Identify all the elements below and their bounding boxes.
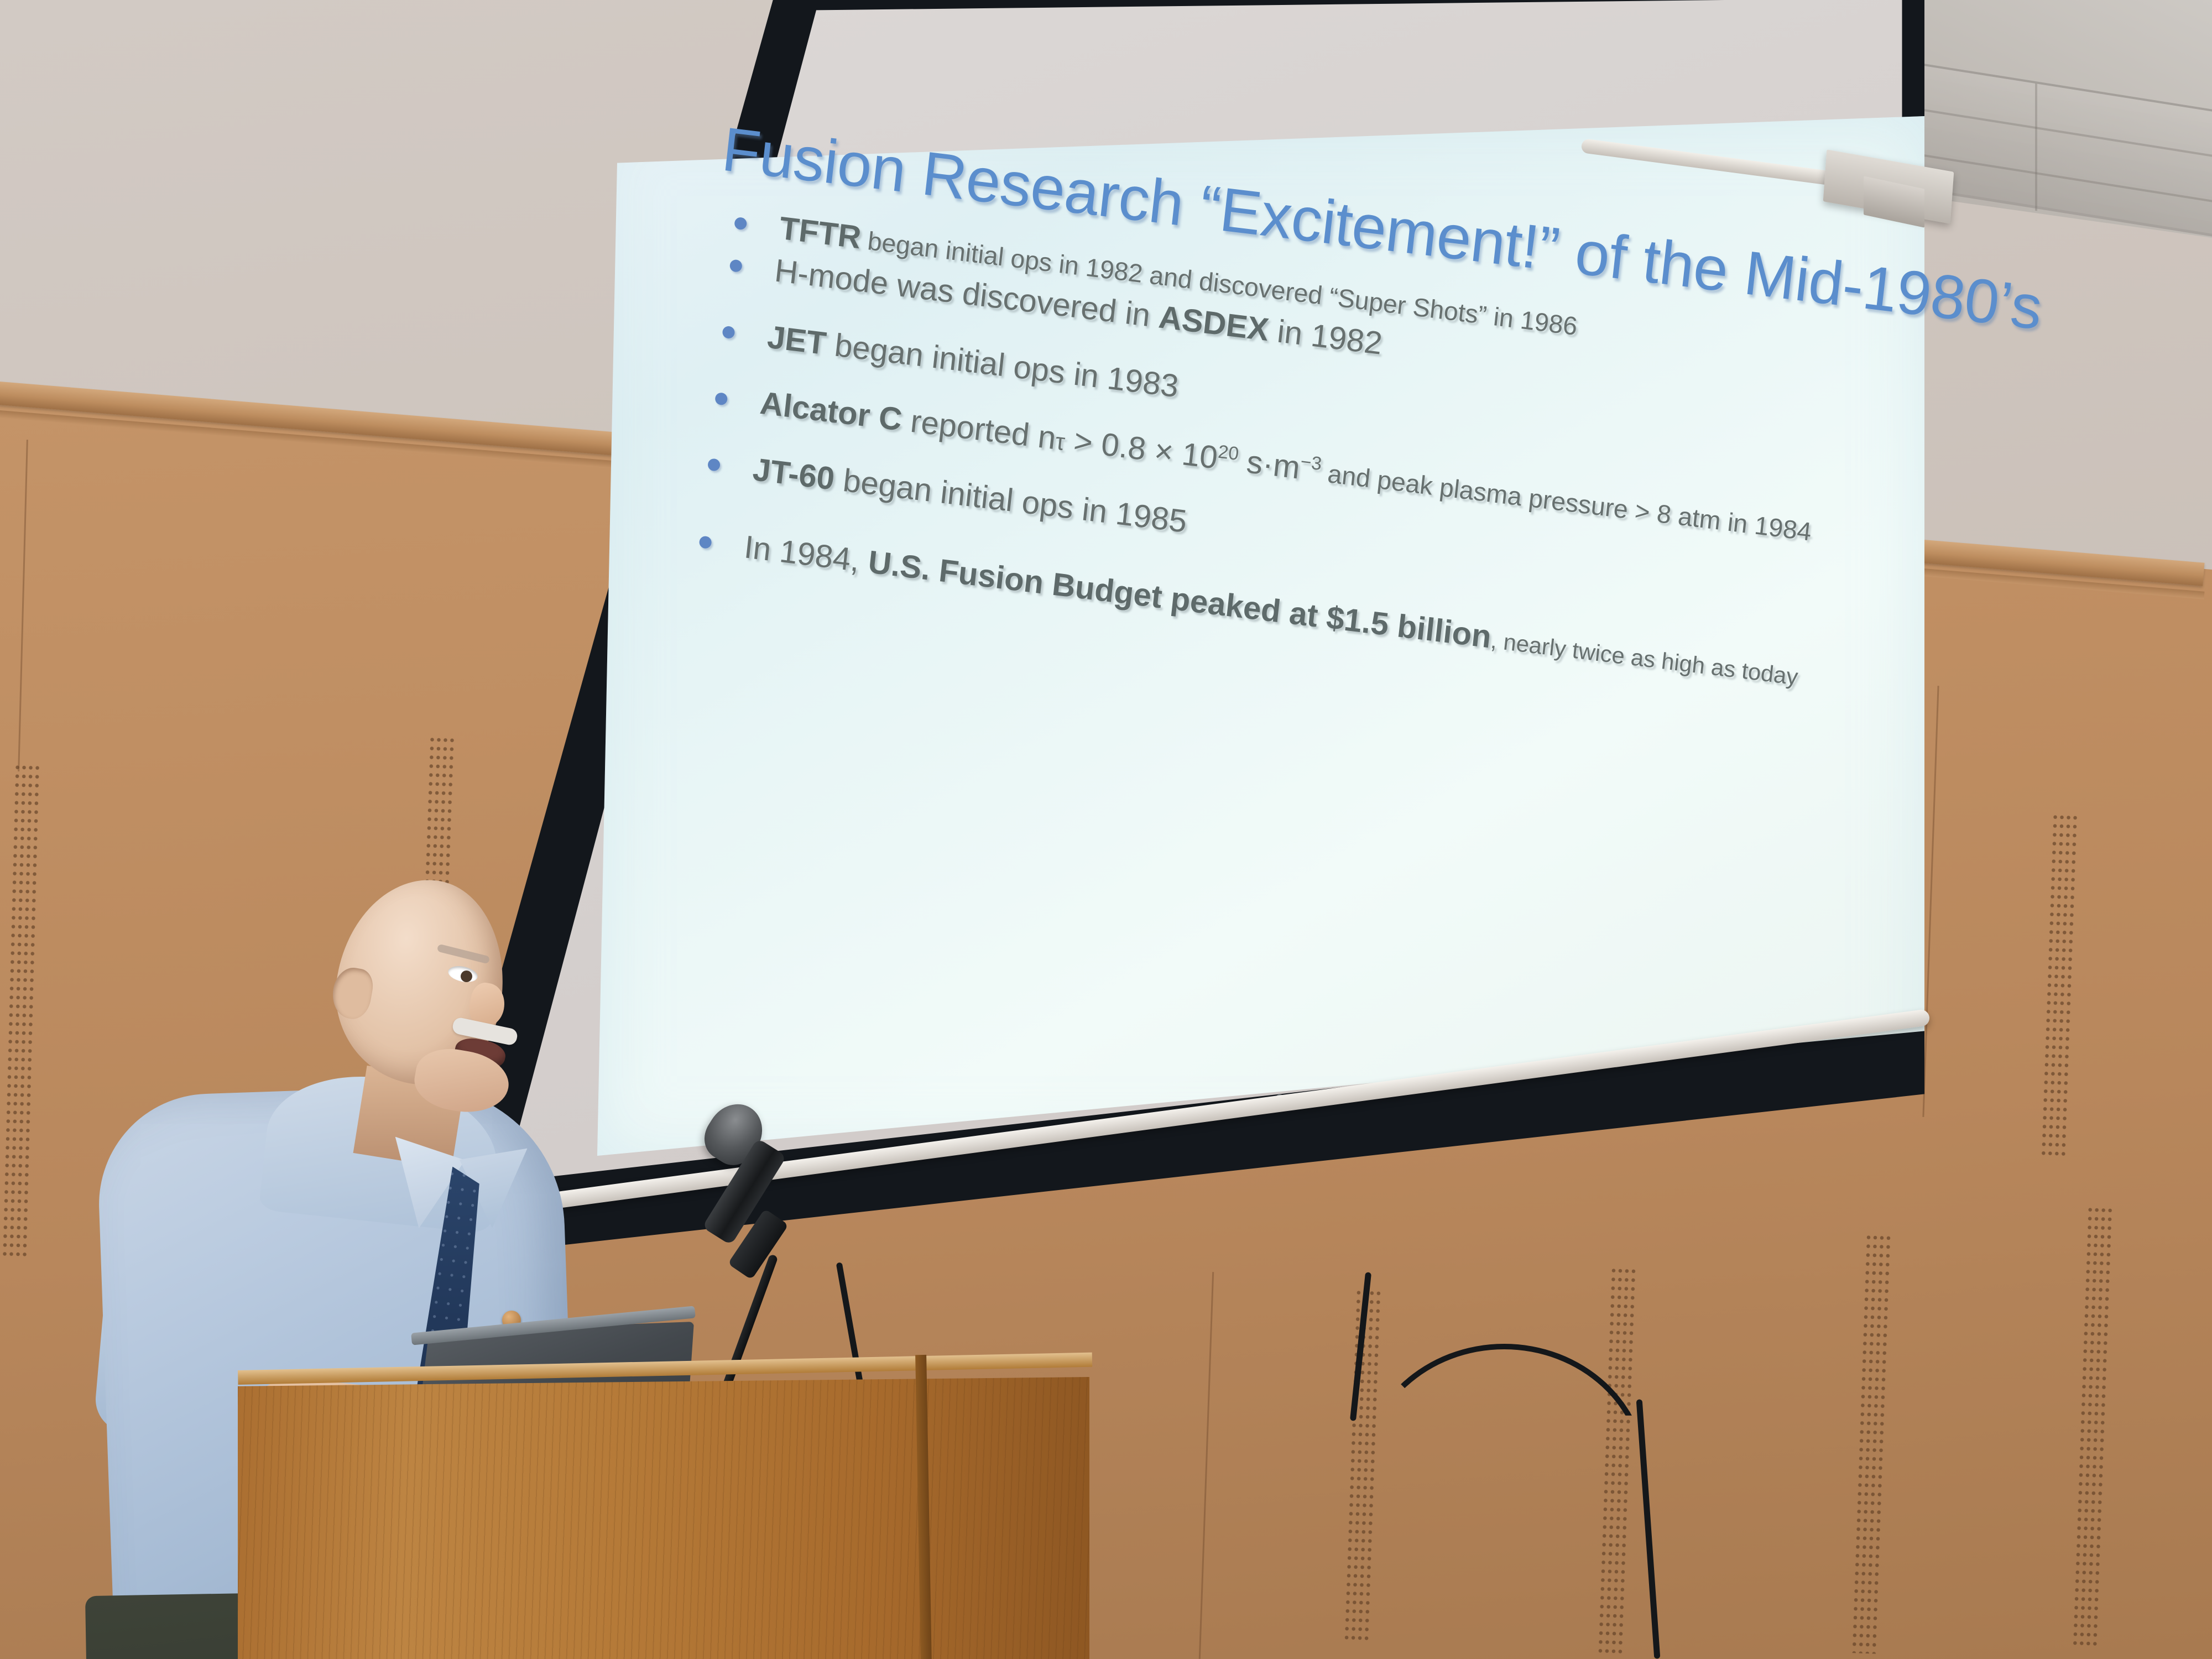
bullet-lead: JT-60 [751,451,836,497]
bullet-dot-icon [714,392,728,406]
bullet-dot-icon [698,535,712,549]
bullet-lead: JET [766,319,828,361]
bullet-exponent: 20 [1217,442,1240,465]
bullet-dot-icon [722,326,735,340]
bullet-rest: in 1982 [1267,312,1384,361]
presenter-pupil [461,971,472,982]
bullet-dot-icon [729,259,743,273]
bullet-rest-c: s·m [1236,443,1302,486]
bullet-dot-icon [734,217,747,231]
bullet-lead: TFTR [778,210,863,255]
bullet-dot-icon [707,458,721,472]
bullet-lead: ASDEX [1157,299,1271,348]
podium-wood-grain [238,1377,1089,1659]
bullet-exponent-2: −3 [1300,452,1323,474]
lecture-hall-photo: Fusion Research “Excitement!” of the Mid… [0,0,2212,1659]
slide-content: Fusion Research “Excitement!” of the Mid… [612,83,1971,1305]
